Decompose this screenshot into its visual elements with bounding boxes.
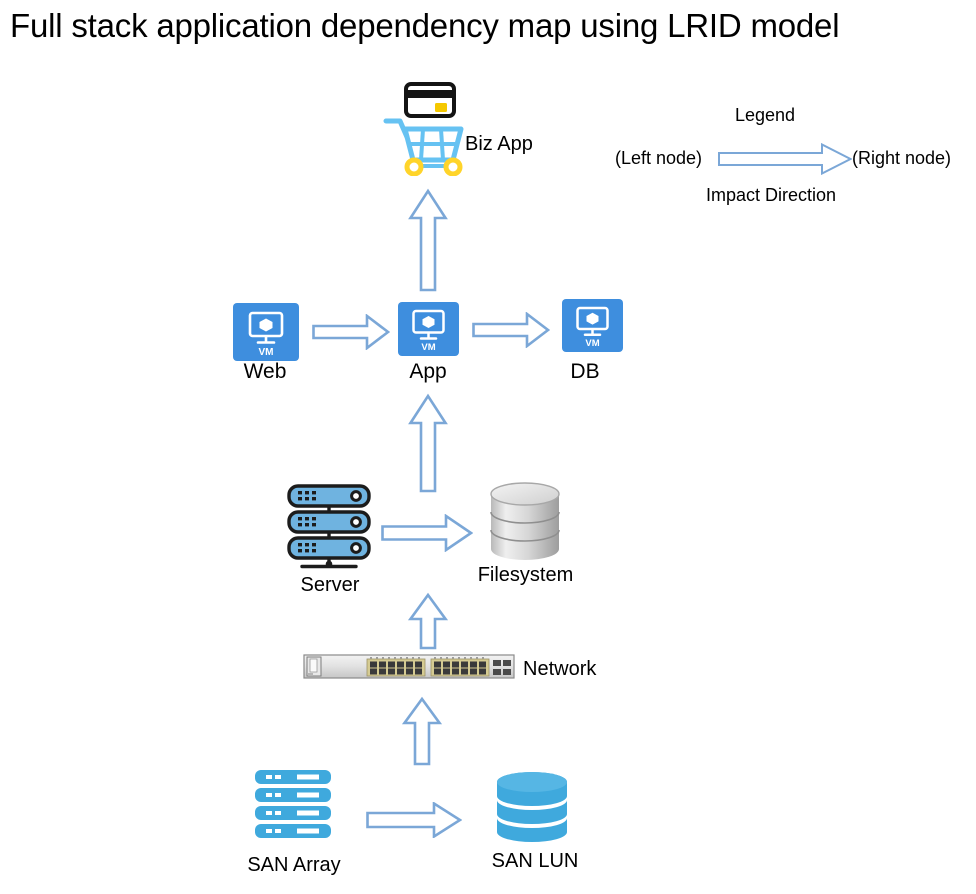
edge-web-to-app-arrow	[312, 314, 390, 350]
bizapp-label: Biz App	[465, 133, 533, 156]
node-app-label: App	[378, 360, 478, 384]
legend-left-node-label: (Left node)	[615, 148, 702, 169]
bizapp-shopping-cart-icon	[383, 80, 475, 176]
legend-right-node-label: (Right node)	[852, 148, 951, 169]
edge-app-to-db-arrow	[472, 312, 550, 348]
node-app-vm-icon: VM	[398, 302, 459, 356]
node-server-label: Server	[278, 573, 382, 597]
svg-text:VM: VM	[259, 347, 274, 358]
node-sanlun-label: SAN LUN	[470, 849, 600, 873]
edge-server-to-filesystem-arrow	[381, 514, 473, 552]
legend-right-arrow-icon	[718, 143, 852, 175]
node-filesystem-label: Filesystem	[458, 563, 593, 587]
node-db-vm-icon: VM	[562, 299, 623, 352]
diagram-canvas: Full stack application dependency map us…	[0, 0, 976, 894]
legend-title: Legend	[735, 105, 795, 126]
node-sanarray-icon	[252, 768, 334, 842]
node-sanlun-cylinder-icon	[494, 770, 570, 848]
edge-server-to-app-arrow	[404, 393, 452, 493]
legend-impact-direction-label: Impact Direction	[706, 185, 836, 206]
node-db-label: DB	[545, 360, 625, 384]
node-network-switch-icon	[303, 652, 515, 682]
edge-sanarray-to-sanlun-arrow	[366, 802, 462, 838]
svg-text:VM: VM	[421, 342, 435, 353]
svg-text:VM: VM	[585, 338, 599, 349]
node-filesystem-database-cylinder-icon	[486, 481, 564, 563]
node-sanarray-label: SAN Array	[235, 853, 353, 877]
node-server-rack-icon	[282, 483, 378, 571]
page-title: Full stack application dependency map us…	[10, 6, 839, 46]
node-network-label: Network	[523, 657, 623, 681]
node-web-label: Web	[215, 360, 315, 384]
edge-network-to-server-arrow	[404, 592, 452, 650]
edge-app-to-bizapp-arrow	[404, 188, 452, 292]
edge-sanarray-to-network-arrow	[398, 696, 446, 766]
node-web-vm-icon: VM	[233, 303, 299, 361]
